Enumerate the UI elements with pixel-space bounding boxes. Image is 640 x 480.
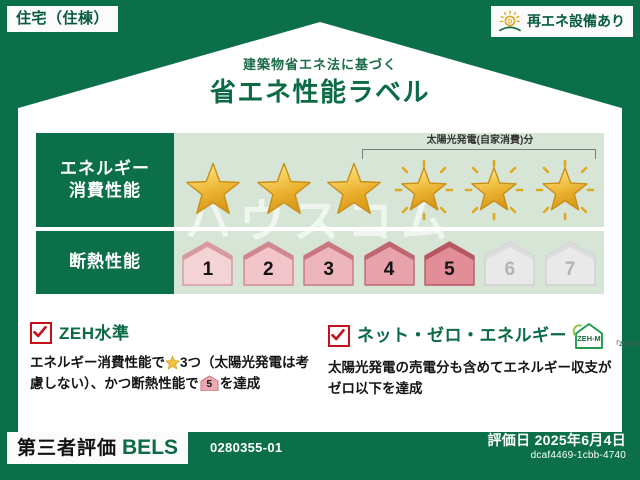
insulation-level-value: 3 <box>302 260 355 279</box>
bels-evaluation-box: 第三者評価 BELS <box>7 432 188 464</box>
document-id: dcaf4469-1cbb-4740 <box>487 449 626 463</box>
criteria-zeh-standard: ZEH水準 エネルギー消費性能で3つ（太陽光発電は考慮しない）、かつ断熱性能で5… <box>30 322 322 395</box>
heading-title: 省エネ性能ラベル <box>0 79 640 105</box>
solar-range-bracket <box>362 149 596 159</box>
insulation-performance-label: 断熱性能 <box>36 231 174 294</box>
energy-performance-label: エネルギー 消費性能 <box>36 133 174 227</box>
solar-generation-note: 太陽光発電(自家消費)分 <box>364 136 596 146</box>
insulation-level-value: 6 <box>483 260 536 279</box>
nze-description: 太陽光発電の売電分も含めてエネルギー収支がゼロ以下を達成 <box>328 358 620 400</box>
evaluation-date-label: 評価日 <box>487 432 530 448</box>
zeh-checkbox <box>30 322 52 344</box>
inline-level-value: 5 <box>200 380 219 390</box>
renewable-badge-label: 再エネ設備あり <box>527 14 625 28</box>
criteria-net-zero-energy: ネット・ゼロ・エネルギー ZEH-M 「ZEH-M」 太陽光発電の売電分も含めて… <box>328 322 620 400</box>
zeh-desc-part1: エネルギー消費性能で <box>30 355 165 370</box>
nze-title: ネット・ゼロ・エネルギー <box>357 327 567 344</box>
star-1 <box>182 159 244 221</box>
certificate-number: 0280355-01 <box>210 440 282 455</box>
check-icon <box>33 325 47 339</box>
nze-checkbox <box>328 325 350 347</box>
heading-subtitle: 建築物省エネ法に基づく <box>0 58 640 71</box>
star-5 <box>463 159 525 221</box>
star-6 <box>534 159 596 221</box>
insulation-level-value: 5 <box>423 260 476 279</box>
star-rating-group <box>174 157 604 223</box>
star-4 <box>393 159 455 221</box>
criteria-zeh-header: ZEH水準 <box>30 322 322 344</box>
insulation-level-4: 4 <box>363 240 416 286</box>
criteria-nze-header: ネット・ゼロ・エネルギー ZEH-M 「ZEH-M」 <box>328 322 620 349</box>
star-3 <box>323 159 385 221</box>
svg-text:ZEH-M: ZEH-M <box>577 334 600 343</box>
insulation-level-7: 7 <box>544 240 597 286</box>
insulation-level-value: 2 <box>242 260 295 279</box>
insulation-level-6: 6 <box>483 240 536 286</box>
insulation-level-value: 7 <box>544 260 597 279</box>
zeh-m-caption: 「ZEH-M」 <box>613 339 640 348</box>
solar-sun-icon: D <box>497 10 523 32</box>
insulation-level-1: 1 <box>181 240 234 286</box>
insulation-levels-panel: 1234567 <box>174 231 604 294</box>
zeh-m-house-icon: ZEH-M <box>572 322 606 349</box>
insulation-level-2: 2 <box>242 240 295 286</box>
bels-jp-label: 第三者評価 <box>17 439 117 458</box>
inline-star-icon <box>165 355 180 370</box>
bels-energy-label: 住宅（住棟） D 再エネ設備あり 建築物省エネ法に基づく 省エネ性能ラベル ハウ… <box>0 0 640 480</box>
bels-en-label: BELS <box>122 437 178 458</box>
evaluation-date: 評価日 2025年6月4日 <box>487 432 626 449</box>
energy-label-line1: エネルギー <box>60 158 150 180</box>
footer-divider <box>18 425 622 427</box>
insulation-level-group: 1234567 <box>174 231 604 294</box>
zeh-description: エネルギー消費性能で3つ（太陽光発電は考慮しない）、かつ断熱性能で5を達成 <box>30 353 322 395</box>
footer-right-info: 評価日 2025年6月4日 dcaf4469-1cbb-4740 <box>487 432 626 463</box>
check-icon <box>331 328 345 342</box>
insulation-level-value: 4 <box>363 260 416 279</box>
inline-level-badge: 5 <box>200 375 219 391</box>
insulation-performance-row: 断熱性能 1234567 <box>36 231 604 294</box>
renewable-equipment-badge: D 再エネ設備あり <box>491 6 633 37</box>
svg-text:D: D <box>508 20 513 26</box>
star-2 <box>253 159 315 221</box>
insulation-level-5: 5 <box>423 240 476 286</box>
insulation-level-3: 3 <box>302 240 355 286</box>
building-type-badge: 住宅（住棟） <box>7 6 118 32</box>
label-heading: 建築物省エネ法に基づく 省エネ性能ラベル <box>0 58 640 105</box>
evaluation-date-value: 2025年6月4日 <box>535 432 626 448</box>
energy-stars-panel: 太陽光発電(自家消費)分 <box>174 133 604 227</box>
zeh-desc-part3: を達成 <box>220 376 261 391</box>
zeh-title: ZEH水準 <box>59 325 130 342</box>
insulation-level-value: 1 <box>181 260 234 279</box>
energy-performance-row: エネルギー 消費性能 太陽光発電(自家消費)分 <box>36 133 604 227</box>
rating-grid: ハウスコム エネルギー 消費性能 太陽光発電(自家消費)分 断熱性能 12345… <box>36 133 604 294</box>
energy-label-line2: 消費性能 <box>60 180 150 202</box>
